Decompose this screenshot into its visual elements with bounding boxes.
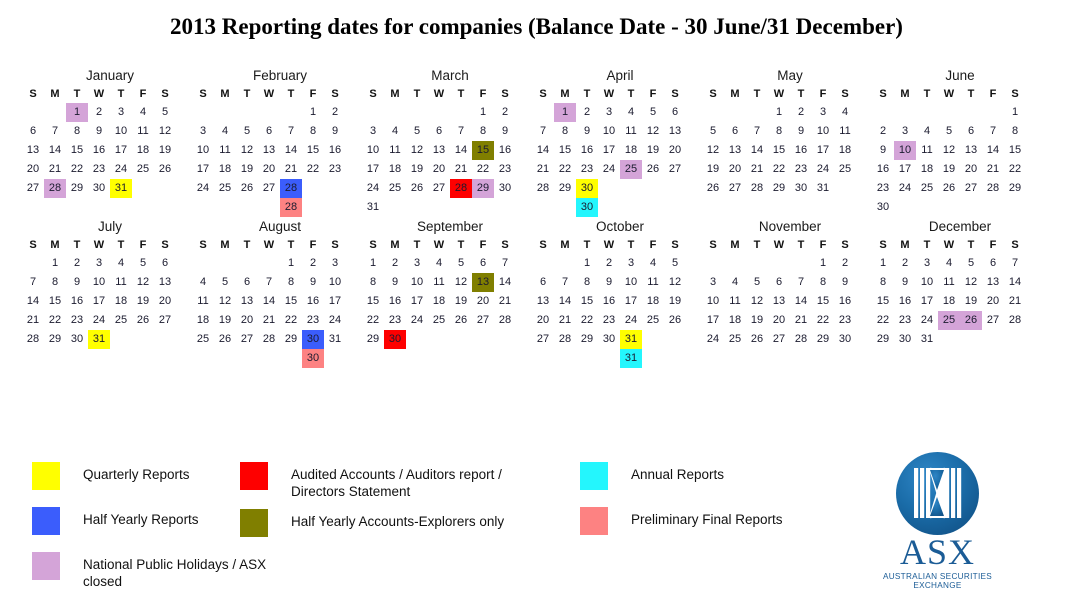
day-cell: 24 <box>110 160 132 179</box>
day-cell-empty <box>494 330 516 349</box>
weekday-header: W <box>258 237 280 254</box>
day-cell: 22 <box>812 311 834 330</box>
weekday-header: T <box>236 237 258 254</box>
day-cell: 3 <box>812 103 834 122</box>
weekday-header: S <box>1004 86 1026 103</box>
day-cell-empty <box>960 103 982 122</box>
day-cell: 27 <box>428 179 450 198</box>
day-cell-empty <box>214 254 236 273</box>
day-cell-empty <box>192 198 214 217</box>
day-cell: 23 <box>88 160 110 179</box>
day-cell: 24 <box>702 330 724 349</box>
day-cell: 11 <box>428 273 450 292</box>
day-cell-empty <box>664 179 686 198</box>
week-row: 10111213141516 <box>192 141 362 160</box>
day-cell-empty <box>532 198 554 217</box>
day-cell: 5 <box>236 122 258 141</box>
weekday-header: W <box>598 237 620 254</box>
month-name: April <box>532 66 702 85</box>
day-cell: 23 <box>302 311 324 330</box>
day-cell: 1 <box>812 254 834 273</box>
day-cell: 4 <box>642 254 664 273</box>
day-cell: 3 <box>192 122 214 141</box>
weekday-header: W <box>938 237 960 254</box>
day-cell: 28 <box>494 311 516 330</box>
legend-item: Audited Accounts / Auditors report / Dir… <box>240 462 560 500</box>
day-cell-empty <box>746 103 768 122</box>
day-cell: 30 <box>894 330 916 349</box>
day-cell: 5 <box>960 254 982 273</box>
weekday-header-row: SMTWTFS <box>532 86 702 103</box>
day-cell: 20 <box>472 292 494 311</box>
day-cell: 17 <box>916 292 938 311</box>
day-cell-empty <box>598 198 620 217</box>
week-row: 17181920212223 <box>702 311 872 330</box>
day-cell: 19 <box>154 141 176 160</box>
day-cell: 6 <box>428 122 450 141</box>
week-row: 6789101112 <box>532 273 702 292</box>
day-cell: 13 <box>428 141 450 160</box>
day-cell: 26 <box>450 311 472 330</box>
weekday-header: S <box>532 86 554 103</box>
week-row: 11121314151617 <box>192 292 362 311</box>
weekday-header-row: SMTWTFS <box>702 237 872 254</box>
day-cell: 21 <box>532 160 554 179</box>
day-cell: 1 <box>280 254 302 273</box>
day-cell: 4 <box>916 122 938 141</box>
weekday-header: T <box>406 237 428 254</box>
day-cell-highlighted: 30 <box>302 349 324 368</box>
day-cell-empty <box>642 349 664 368</box>
day-cell: 1 <box>1004 103 1026 122</box>
weekday-header: T <box>620 237 642 254</box>
weekday-header: F <box>132 86 154 103</box>
day-cell-highlighted: 1 <box>554 103 576 122</box>
day-cell-empty <box>132 179 154 198</box>
day-cell: 10 <box>406 273 428 292</box>
month-september: SeptemberSMTWTFS123456789101112131415161… <box>362 217 532 349</box>
weekday-header: S <box>154 86 176 103</box>
legend-label: National Public Holidays / ASX closed <box>83 552 282 590</box>
day-cell-empty <box>384 198 406 217</box>
day-cell: 12 <box>132 273 154 292</box>
day-cell: 19 <box>132 292 154 311</box>
day-cell: 11 <box>384 141 406 160</box>
day-cell: 18 <box>428 292 450 311</box>
month-april: AprilSMTWTFS1234567891011121314151617181… <box>532 66 702 217</box>
day-cell: 18 <box>132 141 154 160</box>
month-name: February <box>192 66 362 85</box>
day-cell: 12 <box>214 292 236 311</box>
day-cell: 29 <box>280 330 302 349</box>
week-row: 45678910 <box>192 273 362 292</box>
day-cell-highlighted: 25 <box>938 311 960 330</box>
day-cell: 21 <box>258 311 280 330</box>
week-row: 2728293031 <box>532 330 702 349</box>
day-cell: 25 <box>110 311 132 330</box>
weekday-header: F <box>982 86 1004 103</box>
day-cell: 14 <box>44 141 66 160</box>
week-row: 123456 <box>22 254 192 273</box>
day-cell-highlighted: 25 <box>620 160 642 179</box>
day-cell: 17 <box>88 292 110 311</box>
day-cell: 26 <box>406 179 428 198</box>
weekday-header: S <box>192 86 214 103</box>
day-cell: 20 <box>664 141 686 160</box>
week-row: 14151617181920 <box>22 292 192 311</box>
day-cell-empty <box>472 198 494 217</box>
day-cell: 4 <box>192 273 214 292</box>
day-cell: 22 <box>472 160 494 179</box>
day-cell-empty <box>1004 330 1026 349</box>
day-cell: 12 <box>938 141 960 160</box>
extra-marker-row: 30 <box>532 198 702 217</box>
week-row: 1 <box>872 103 1042 122</box>
day-cell-empty <box>406 330 428 349</box>
day-cell: 4 <box>428 254 450 273</box>
day-cell: 30 <box>88 179 110 198</box>
day-cell-empty <box>938 103 960 122</box>
week-row: 78910111213 <box>532 122 702 141</box>
day-cell: 2 <box>598 254 620 273</box>
day-cell-empty <box>236 349 258 368</box>
day-cell: 7 <box>44 122 66 141</box>
day-cell-empty <box>450 198 472 217</box>
day-cell: 21 <box>1004 292 1026 311</box>
week-row: 6789101112 <box>22 122 192 141</box>
weekday-header: F <box>642 86 664 103</box>
legend-swatch-annual <box>580 462 608 490</box>
legend-column-3: Annual ReportsPreliminary Final Reports <box>580 462 880 552</box>
day-cell-empty <box>22 103 44 122</box>
month-july: JulySMTWTFS12345678910111213141516171819… <box>22 217 192 349</box>
day-cell-highlighted: 1 <box>66 103 88 122</box>
day-cell: 21 <box>280 160 302 179</box>
weekday-header: T <box>450 237 472 254</box>
day-cell: 13 <box>532 292 554 311</box>
legend-swatch-quarterly <box>32 462 60 490</box>
weekday-header: M <box>724 237 746 254</box>
weekday-header: T <box>790 237 812 254</box>
legend-column-2: Audited Accounts / Auditors report / Dir… <box>240 462 560 554</box>
month-name: July <box>22 217 192 236</box>
day-cell: 13 <box>22 141 44 160</box>
day-cell: 3 <box>362 122 384 141</box>
day-cell: 14 <box>450 141 472 160</box>
legend-item: National Public Holidays / ASX closed <box>32 552 282 590</box>
day-cell: 26 <box>664 311 686 330</box>
day-cell-empty <box>702 254 724 273</box>
day-cell: 17 <box>192 160 214 179</box>
day-cell: 23 <box>872 179 894 198</box>
weekday-header: M <box>44 237 66 254</box>
day-cell: 8 <box>280 273 302 292</box>
day-cell: 25 <box>724 330 746 349</box>
weekday-header: S <box>872 86 894 103</box>
day-cell-empty <box>642 179 664 198</box>
week-row: 12345 <box>532 254 702 273</box>
day-cell: 11 <box>214 141 236 160</box>
day-cell-empty <box>642 330 664 349</box>
day-cell: 29 <box>554 179 576 198</box>
week-row: 3456789 <box>362 122 532 141</box>
day-cell-empty <box>280 103 302 122</box>
day-cell: 13 <box>154 273 176 292</box>
weekday-header-row: SMTWTFS <box>872 86 1042 103</box>
weekday-header: M <box>554 86 576 103</box>
week-row: 12 <box>192 103 362 122</box>
day-cell: 30 <box>598 330 620 349</box>
day-cell: 23 <box>494 160 516 179</box>
week-row: 2728293031 <box>22 179 192 198</box>
week-row: 24252627282930 <box>702 330 872 349</box>
day-cell-empty <box>302 198 324 217</box>
day-cell-empty <box>664 330 686 349</box>
weekday-header: T <box>110 86 132 103</box>
weekday-header: S <box>834 237 856 254</box>
day-cell-empty <box>834 179 856 198</box>
legend-swatch-preliminary <box>580 507 608 535</box>
weekday-header: M <box>214 237 236 254</box>
weekday-header: S <box>494 237 516 254</box>
day-cell: 2 <box>894 254 916 273</box>
day-cell: 23 <box>834 311 856 330</box>
weekday-header: W <box>428 86 450 103</box>
day-cell-highlighted: 28 <box>450 179 472 198</box>
week-row: 891011121314 <box>362 273 532 292</box>
day-cell-empty <box>302 179 324 198</box>
day-cell-empty <box>154 179 176 198</box>
weekday-header: M <box>44 86 66 103</box>
day-cell: 27 <box>532 330 554 349</box>
day-cell: 5 <box>406 122 428 141</box>
day-cell-empty <box>982 103 1004 122</box>
legend-swatch-half-yearly <box>32 507 60 535</box>
week-row: 18192021222324 <box>192 311 362 330</box>
day-cell: 17 <box>812 141 834 160</box>
day-cell: 3 <box>702 273 724 292</box>
month-may: MaySMTWTFS123456789101112131415161718192… <box>702 66 872 198</box>
day-cell: 19 <box>960 292 982 311</box>
day-cell-empty <box>938 198 960 217</box>
day-cell: 22 <box>1004 160 1026 179</box>
week-row: 23242526272829 <box>872 179 1042 198</box>
legend-label: Audited Accounts / Auditors report / Dir… <box>291 462 502 500</box>
day-cell: 22 <box>66 160 88 179</box>
day-cell: 1 <box>362 254 384 273</box>
day-cell: 11 <box>620 122 642 141</box>
weekday-header: T <box>960 237 982 254</box>
day-cell-empty <box>598 179 620 198</box>
day-cell: 1 <box>472 103 494 122</box>
day-cell: 4 <box>834 103 856 122</box>
day-cell: 20 <box>236 311 258 330</box>
week-row: 19202122232425 <box>702 160 872 179</box>
day-cell: 24 <box>192 179 214 198</box>
weekday-header: S <box>1004 237 1026 254</box>
week-row: 2425262728 <box>192 179 362 198</box>
weekday-header: M <box>384 86 406 103</box>
day-cell: 8 <box>1004 122 1026 141</box>
day-cell: 5 <box>132 254 154 273</box>
month-march: MarchSMTWTFS1234567891011121314151617181… <box>362 66 532 217</box>
weekday-header: S <box>324 86 346 103</box>
day-cell: 24 <box>598 160 620 179</box>
day-cell-empty <box>472 330 494 349</box>
day-cell: 10 <box>88 273 110 292</box>
day-cell: 8 <box>44 273 66 292</box>
month-december: DecemberSMTWTFS1234567891011121314151617… <box>872 217 1042 349</box>
day-cell: 1 <box>768 103 790 122</box>
day-cell-empty <box>642 198 664 217</box>
weekday-header: W <box>88 237 110 254</box>
day-cell-highlighted: 28 <box>280 198 302 217</box>
day-cell: 15 <box>280 292 302 311</box>
weekday-header: T <box>280 237 302 254</box>
week-row: 22232425262728 <box>872 311 1042 330</box>
week-row: 2345678 <box>872 122 1042 141</box>
day-cell: 3 <box>110 103 132 122</box>
day-cell: 8 <box>554 122 576 141</box>
day-cell: 11 <box>916 141 938 160</box>
day-cell: 22 <box>576 311 598 330</box>
day-cell: 19 <box>664 292 686 311</box>
day-cell: 15 <box>872 292 894 311</box>
day-cell: 14 <box>258 292 280 311</box>
day-cell-empty <box>236 198 258 217</box>
weekday-header: S <box>362 86 384 103</box>
week-row: 25262728293031 <box>192 330 362 349</box>
weekday-header: S <box>834 86 856 103</box>
day-cell: 13 <box>768 292 790 311</box>
day-cell-empty <box>44 103 66 122</box>
month-name: November <box>702 217 872 236</box>
day-cell: 9 <box>576 122 598 141</box>
day-cell: 25 <box>834 160 856 179</box>
day-cell: 9 <box>88 122 110 141</box>
day-cell-empty <box>258 254 280 273</box>
day-cell-highlighted: 10 <box>894 141 916 160</box>
week-row: 14151617181920 <box>532 141 702 160</box>
day-cell-empty <box>872 103 894 122</box>
week-row: 12 <box>362 103 532 122</box>
day-cell: 6 <box>154 254 176 273</box>
day-cell: 8 <box>812 273 834 292</box>
week-row: 12 <box>702 254 872 273</box>
week-row: 282930 <box>532 179 702 198</box>
day-cell: 2 <box>576 103 598 122</box>
day-cell: 20 <box>982 292 1004 311</box>
day-cell-empty <box>450 330 472 349</box>
day-cell: 6 <box>472 254 494 273</box>
week-row: 30 <box>872 198 1042 217</box>
weekday-header: T <box>960 86 982 103</box>
week-row: 28293031 <box>22 330 192 349</box>
week-row: 21222324252627 <box>532 160 702 179</box>
day-cell: 7 <box>790 273 812 292</box>
day-cell: 4 <box>214 122 236 141</box>
weekday-header: S <box>192 237 214 254</box>
day-cell: 16 <box>834 292 856 311</box>
week-row: 17181920212223 <box>192 160 362 179</box>
calendar-row: JanuarySMTWTFS12345678910111213141516171… <box>22 66 1062 217</box>
day-cell: 29 <box>66 179 88 198</box>
day-cell: 30 <box>872 198 894 217</box>
day-cell: 11 <box>938 273 960 292</box>
day-cell: 7 <box>450 122 472 141</box>
day-cell: 18 <box>916 160 938 179</box>
month-august: AugustSMTWTFS123456789101112131415161718… <box>192 217 362 368</box>
day-cell-empty <box>450 103 472 122</box>
day-cell-empty <box>982 198 1004 217</box>
day-cell: 2 <box>302 254 324 273</box>
day-cell: 29 <box>768 179 790 198</box>
legend-label: Half Yearly Accounts-Explorers only <box>291 509 504 530</box>
day-cell-empty <box>192 349 214 368</box>
day-cell-empty <box>258 198 280 217</box>
day-cell: 11 <box>192 292 214 311</box>
day-cell: 2 <box>384 254 406 273</box>
day-cell: 18 <box>724 311 746 330</box>
day-cell: 15 <box>44 292 66 311</box>
day-cell: 9 <box>324 122 346 141</box>
legend-item: Preliminary Final Reports <box>580 507 880 535</box>
day-cell: 3 <box>620 254 642 273</box>
month-name: September <box>362 217 532 236</box>
weekday-header: T <box>450 86 472 103</box>
day-cell-highlighted: 30 <box>576 179 598 198</box>
month-february: FebruarySMTWTFS1234567891011121314151617… <box>192 66 362 217</box>
day-cell-highlighted: 30 <box>384 330 406 349</box>
week-row: 1234 <box>702 103 872 122</box>
day-cell: 24 <box>916 311 938 330</box>
week-row: 20212223242526 <box>22 160 192 179</box>
day-cell: 16 <box>324 141 346 160</box>
weekday-header: S <box>324 237 346 254</box>
day-cell: 25 <box>132 160 154 179</box>
day-cell-empty <box>324 179 346 198</box>
asx-tagline: AUSTRALIAN SECURITIES EXCHANGE <box>880 572 995 590</box>
weekday-header-row: SMTWTFS <box>22 86 192 103</box>
day-cell: 23 <box>576 160 598 179</box>
day-cell-highlighted: 13 <box>472 273 494 292</box>
day-cell: 2 <box>494 103 516 122</box>
weekday-header: S <box>702 86 724 103</box>
day-cell: 28 <box>554 330 576 349</box>
day-cell-highlighted: 28 <box>44 179 66 198</box>
day-cell: 9 <box>834 273 856 292</box>
day-cell: 23 <box>324 160 346 179</box>
weekday-header: S <box>22 86 44 103</box>
day-cell: 27 <box>960 179 982 198</box>
day-cell: 9 <box>872 141 894 160</box>
day-cell-empty <box>214 198 236 217</box>
day-cell: 11 <box>642 273 664 292</box>
day-cell: 3 <box>406 254 428 273</box>
day-cell: 17 <box>362 160 384 179</box>
weekday-header: S <box>532 237 554 254</box>
month-name: October <box>532 217 702 236</box>
weekday-header: F <box>302 86 324 103</box>
day-cell: 20 <box>22 160 44 179</box>
day-cell-empty <box>192 103 214 122</box>
day-cell-empty <box>214 349 236 368</box>
day-cell: 9 <box>66 273 88 292</box>
legend-label: Preliminary Final Reports <box>631 507 783 528</box>
day-cell: 28 <box>1004 311 1026 330</box>
day-cell: 9 <box>494 122 516 141</box>
day-cell: 20 <box>428 160 450 179</box>
